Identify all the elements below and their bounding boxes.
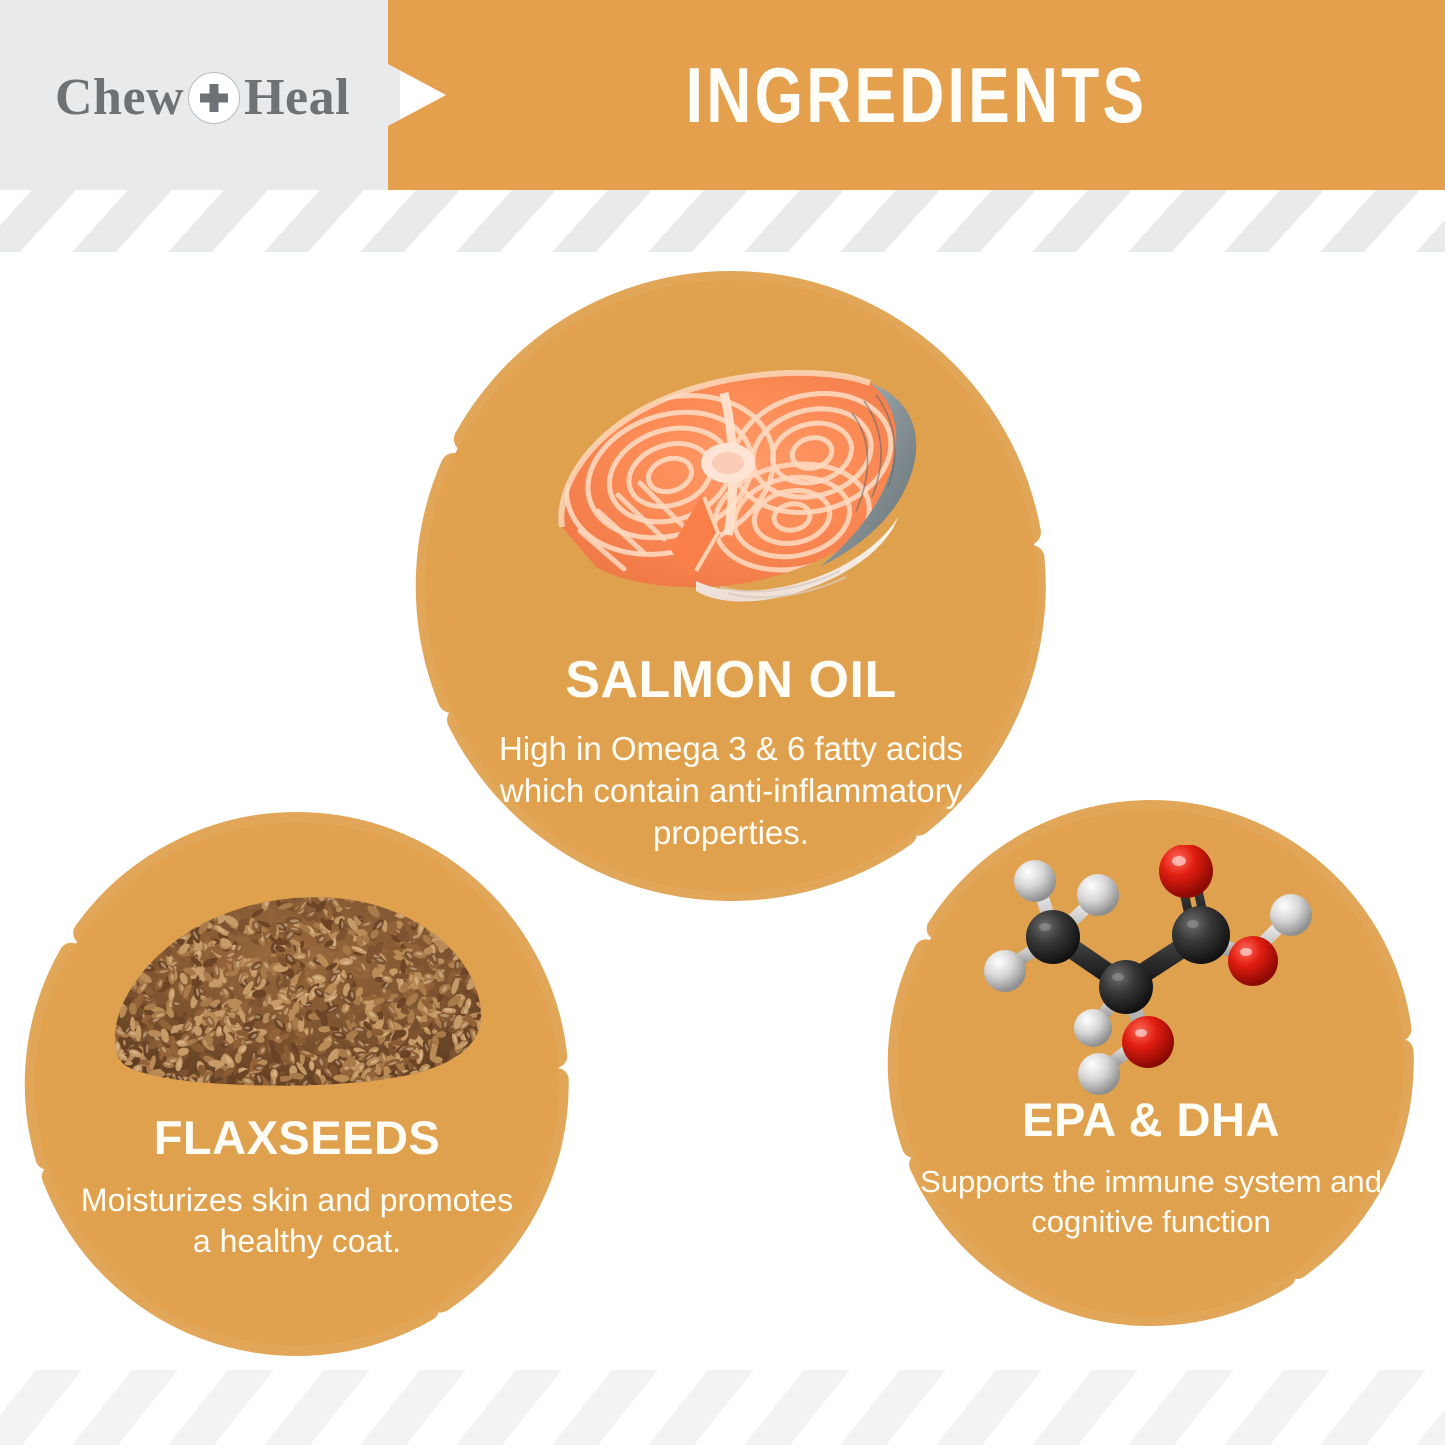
card-content: EPA & DHA Supports the immune system and…	[898, 810, 1404, 1316]
brand-word-chew: Chew	[55, 72, 184, 124]
page-title: INGREDIENTS	[494, 0, 1340, 190]
oxygen-hydroxyl-lower	[1122, 1016, 1174, 1068]
brand-word-heal: Heal	[244, 72, 350, 124]
card-title-salmon: SALMON OIL	[425, 650, 1037, 710]
card-description-flaxseeds: Moisturizes skin and promotes a healthy …	[35, 1180, 559, 1262]
carbon-carboxyl	[1172, 906, 1230, 964]
card-title-epa-dha: EPA & DHA	[898, 1092, 1404, 1147]
carbon-methyl	[1026, 910, 1080, 964]
ingredient-card-salmon-oil[interactable]: SALMON OIL High in Omega 3 & 6 fatty aci…	[425, 280, 1037, 892]
brand-logo: Chew Heal	[55, 58, 355, 138]
stripe-band-bottom	[0, 1370, 1445, 1445]
oxygen-double-bond	[1159, 845, 1213, 898]
molecule-model-image	[983, 845, 1323, 1095]
card-content: SALMON OIL High in Omega 3 & 6 fatty aci…	[425, 280, 1037, 892]
salmon-steak-image	[520, 335, 945, 635]
stripe-band-top	[0, 190, 1445, 252]
plus-in-circle-icon	[188, 72, 240, 124]
stripe-pattern-top-svg	[0, 190, 1445, 252]
card-description-epa-dha: Supports the immune system and cognitive…	[898, 1162, 1404, 1241]
card-content: FLAXSEEDS Moisturizes skin and promotes …	[35, 822, 559, 1346]
carbon-center	[1099, 960, 1153, 1014]
page-header: Chew Heal INGREDIENTS	[0, 0, 1445, 190]
ingredient-card-epa-dha[interactable]: EPA & DHA Supports the immune system and…	[898, 810, 1404, 1316]
flaxseed-pile-image	[95, 857, 495, 1102]
stripe-pattern-bottom-svg	[0, 1370, 1445, 1445]
infographic-page: Chew Heal INGREDIENTS	[0, 0, 1445, 1445]
card-title-flaxseeds: FLAXSEEDS	[35, 1110, 559, 1165]
ingredient-card-flaxseeds[interactable]: FLAXSEEDS Moisturizes skin and promotes …	[35, 822, 559, 1346]
oxygen-hydroxyl-right	[1228, 936, 1278, 986]
